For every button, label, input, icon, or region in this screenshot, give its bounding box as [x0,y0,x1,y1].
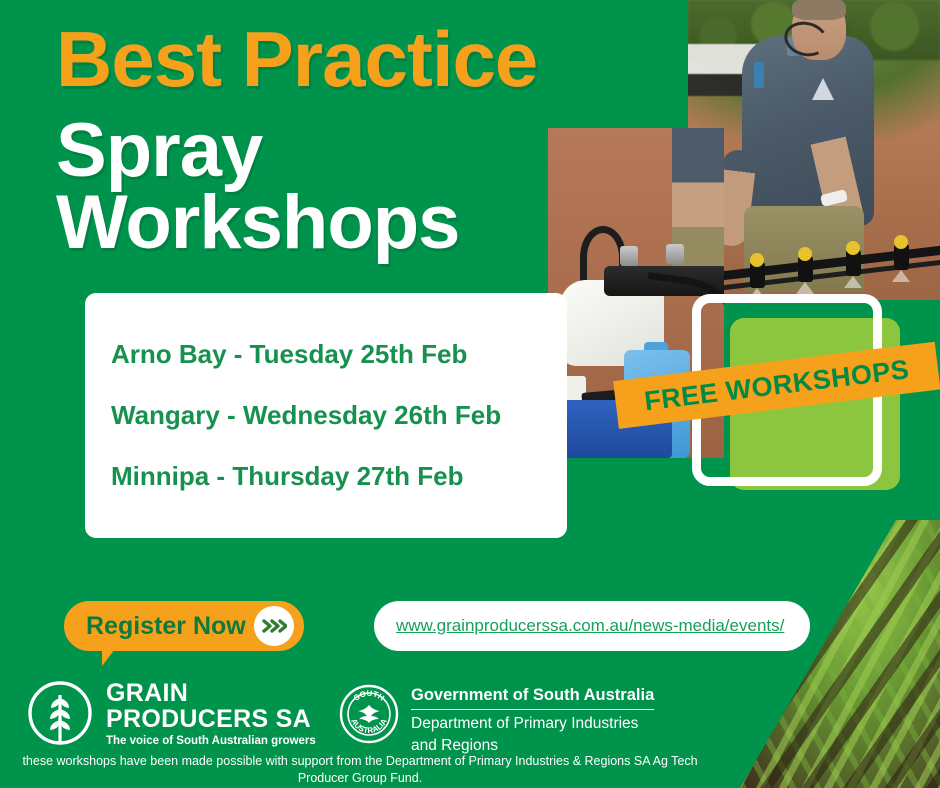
events-url-pill[interactable]: www.grainproducerssa.com.au/news-media/e… [374,601,810,651]
cta-row: Register Now www.grainproducerssa.com.au… [64,601,304,651]
register-now-button[interactable]: Register Now [64,601,304,651]
double-chevron-right-icon [254,606,294,646]
gpsa-tagline: The voice of South Australian growers [106,735,316,747]
gpsa-name-line-2: PRODUCERS SA [106,707,316,733]
soil-rows [740,520,940,788]
crop-seedlings-photo [740,520,940,788]
wheat-circle-logo-icon [26,679,94,747]
events-url-text: www.grainproducerssa.com.au/news-media/e… [396,616,784,636]
operator-leg [672,128,724,288]
tank-cap-right [666,244,684,264]
gpsa-name-line-1: GRAIN [106,681,316,707]
svg-text:SOUTH: SOUTH [352,689,386,703]
government-logo-block: SOUTH AUSTRALIA Government of South Aust… [338,683,654,755]
event-row: Arno Bay - Tuesday 25th Feb [111,339,567,370]
spray-boom-graphic [688,210,940,300]
event-row: Wangary - Wednesday 26th Feb [111,400,567,431]
government-title: Government of South Australia [411,686,654,710]
headline-line-1: Best Practice [56,22,666,97]
funding-disclaimer: these workshops have been made possible … [0,753,720,787]
government-department-line-1: Department of Primary Industries [411,715,654,732]
presenter-hair [792,0,846,20]
events-card: Arno Bay - Tuesday 25th Feb Wangary - We… [85,293,567,538]
gpsa-logo-block: GRAIN PRODUCERS SA The voice of South Au… [26,679,316,747]
event-row: Minnipa - Thursday 27th Feb [111,461,567,492]
register-now-label: Register Now [86,612,246,641]
south-australia-crest-icon: SOUTH AUSTRALIA [338,683,400,745]
speech-bubble-tail [102,649,115,666]
poster-canvas: Best Practice Spray Workshops FREE WORKS… [0,0,940,788]
page-title: Best Practice Spray Workshops [56,22,666,259]
headline-line-3: Workshops [56,187,666,259]
headline-line-2: Spray [56,115,666,187]
presenter-photo [688,0,940,300]
shirt-pocket [754,62,764,88]
